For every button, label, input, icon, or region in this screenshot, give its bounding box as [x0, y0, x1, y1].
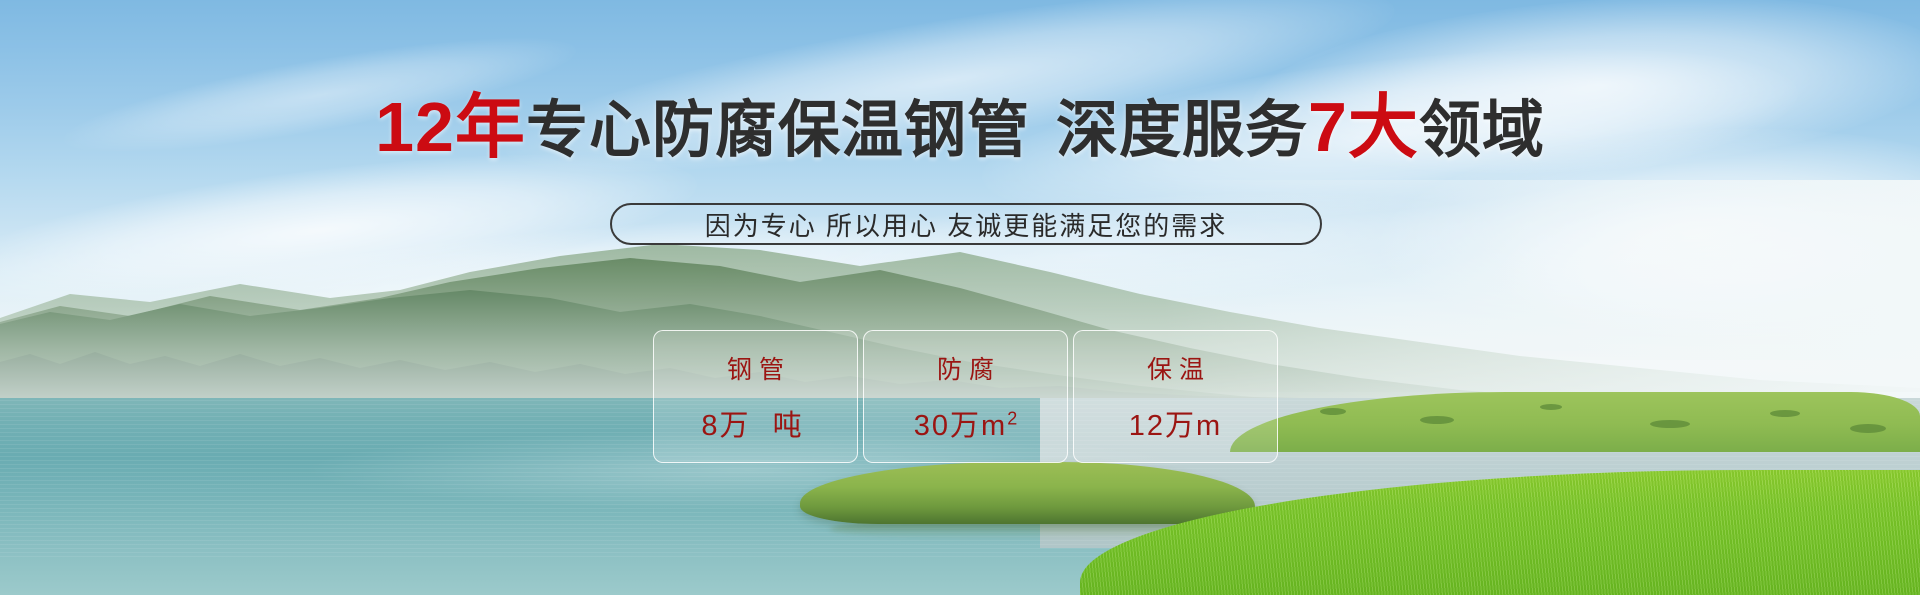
stat-card-group: 钢管 8万 吨 防腐 30万m2 保温 12万m: [653, 330, 1283, 463]
marsh-speck: [1540, 404, 1562, 410]
stat-card-insulation[interactable]: 保温 12万m: [1073, 330, 1278, 463]
stat-value-exponent: 2: [1007, 408, 1017, 428]
stat-card-anticorrosion[interactable]: 防腐 30万m2: [863, 330, 1068, 463]
headline: 12年专心防腐保温钢管深度服务7大领域: [0, 92, 1920, 166]
stat-value-number: 12: [1129, 410, 1165, 442]
headline-fields-accent: 7大: [1308, 88, 1419, 166]
stat-value-unit: 万 吨: [720, 410, 810, 442]
stat-value-unit: 万m: [1165, 410, 1222, 442]
hero-banner: 12年专心防腐保温钢管深度服务7大领域 因为专心 所以用心 友诚更能满足您的需求…: [0, 0, 1920, 595]
stat-value-number: 8: [701, 410, 719, 442]
marsh-speck: [1320, 408, 1346, 415]
subtitle-pill: 因为专心 所以用心 友诚更能满足您的需求: [610, 203, 1322, 245]
subtitle-text: 因为专心 所以用心 友诚更能满足您的需求: [705, 206, 1227, 243]
stat-card-steel-pipe[interactable]: 钢管 8万 吨: [653, 330, 858, 463]
stat-card-title: 防腐: [930, 350, 1001, 386]
headline-service-text: 深度服务: [1056, 96, 1308, 165]
marsh-speck: [1650, 420, 1690, 428]
stat-value-unit: 万m: [950, 410, 1007, 442]
marsh-speck: [1770, 410, 1800, 417]
stat-card-title: 钢管: [720, 350, 791, 386]
stat-card-value: 12万m: [1129, 402, 1222, 444]
stat-card-title: 保温: [1140, 350, 1211, 386]
stat-card-value: 8万 吨: [701, 402, 809, 444]
marsh-speck: [1850, 424, 1886, 433]
headline-fields-text: 领域: [1419, 96, 1545, 165]
headline-years-accent: 12年: [375, 88, 526, 166]
stat-card-value: 30万m2: [914, 402, 1017, 444]
headline-main-text: 专心防腐保温钢管: [526, 96, 1030, 165]
stat-value-number: 30: [914, 410, 950, 442]
marsh-speck: [1420, 416, 1454, 424]
